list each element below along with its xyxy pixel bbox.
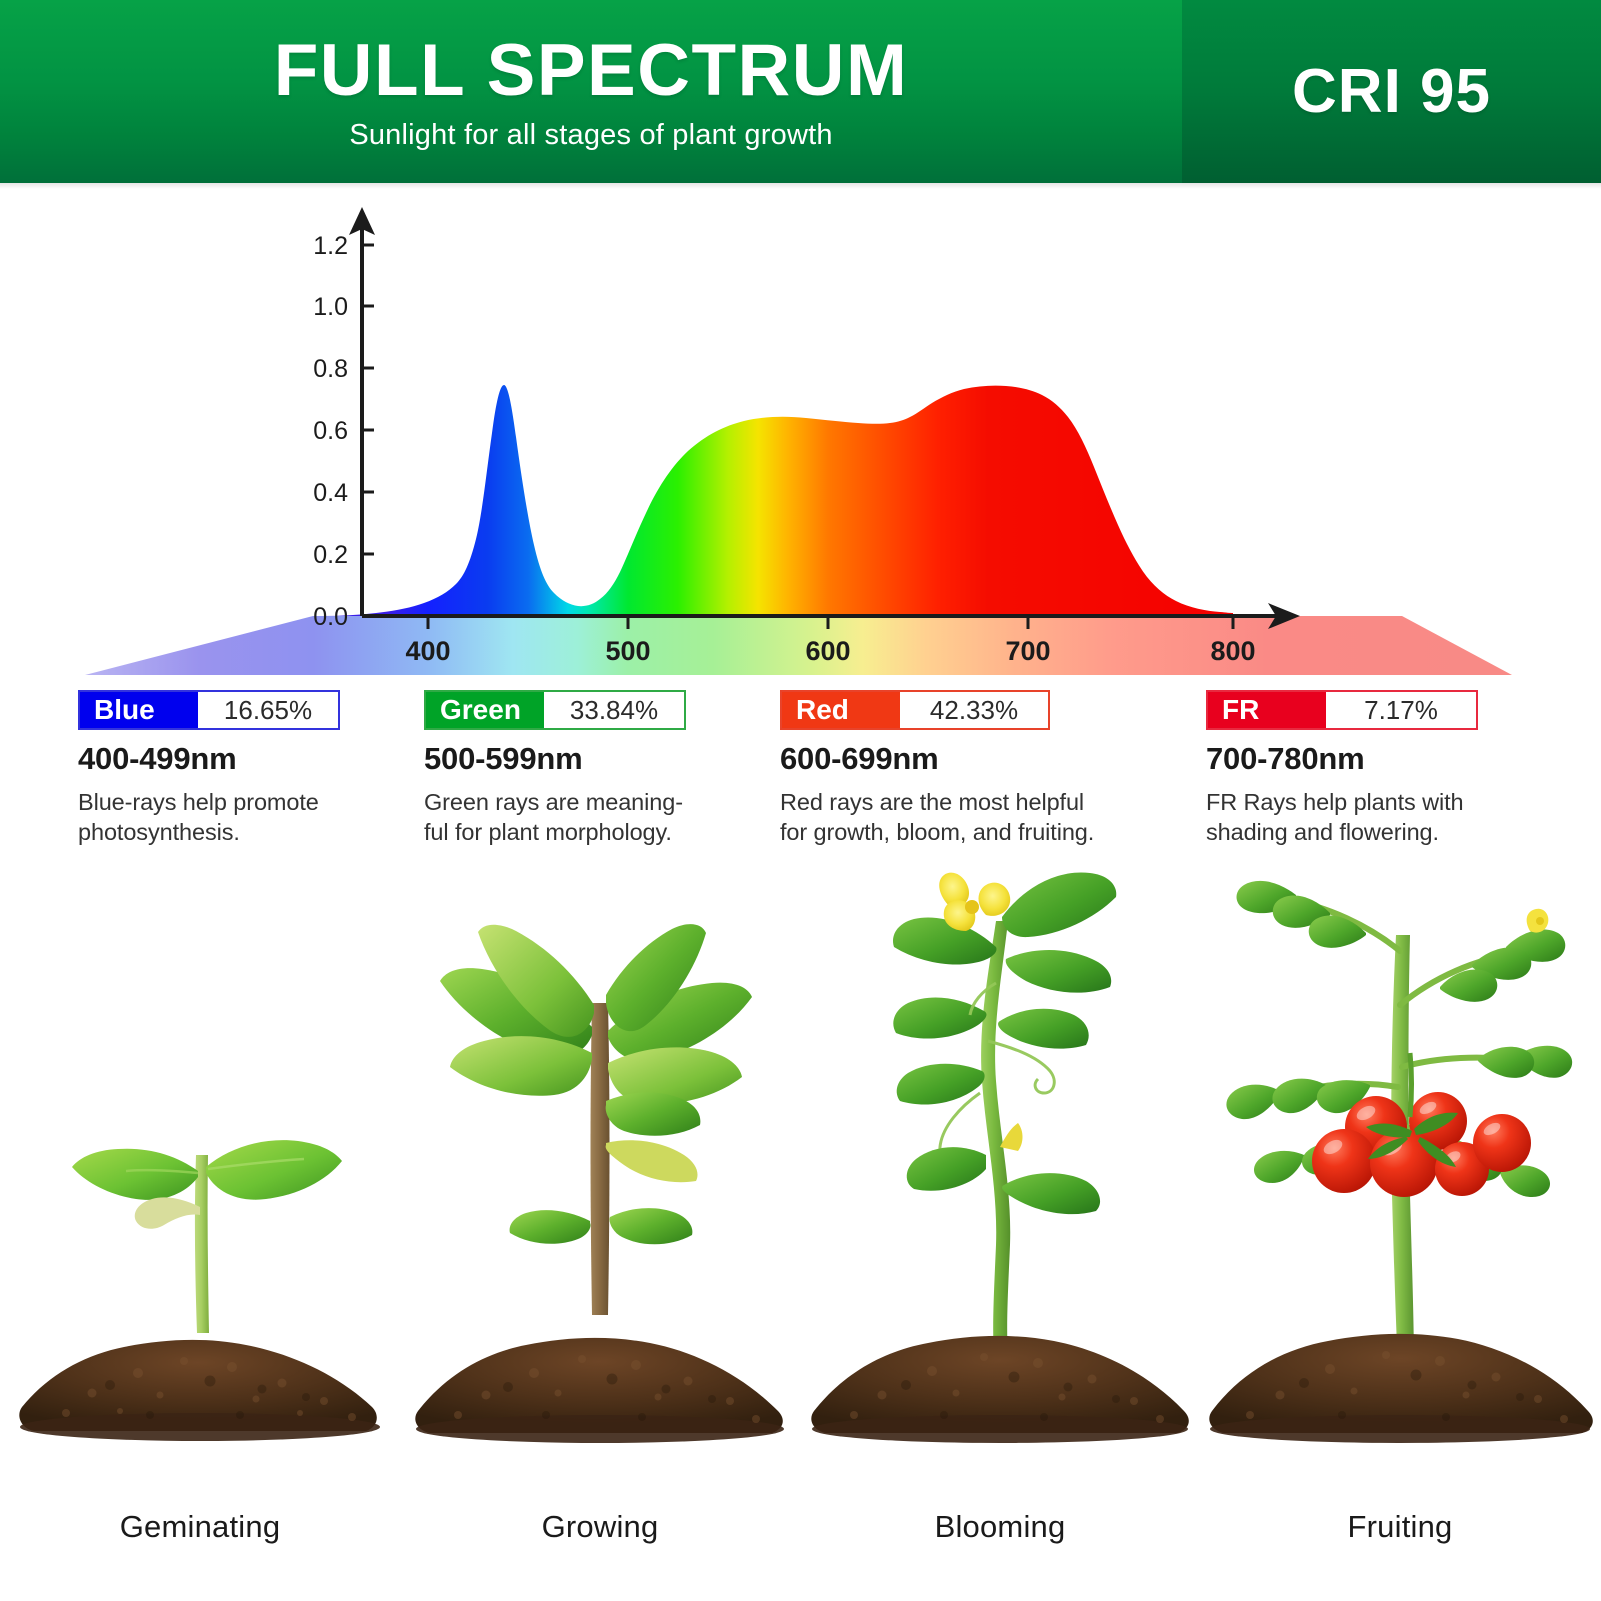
badge-red: Red 42.33% [780, 690, 1050, 730]
flowering-vine-icon [800, 855, 1200, 1515]
spectrum-chart: 0.0 0.2 0.4 0.6 0.8 1.0 1.2 400 500 600 [0, 189, 1601, 689]
spectrum-wedge-band [85, 616, 1512, 675]
stage-label-fruiting: Fruiting [1200, 1509, 1600, 1545]
badge-blue-name: Blue [80, 692, 198, 728]
legend-item-fr: FR 7.17% 700-780nm FR Rays help plants w… [1206, 690, 1584, 847]
svg-text:600: 600 [805, 636, 850, 666]
stage-label-blooming: Blooming [800, 1509, 1200, 1545]
svg-text:1.2: 1.2 [313, 232, 348, 260]
stage-fruiting: Fruiting [1200, 855, 1600, 1601]
svg-text:0.4: 0.4 [313, 479, 348, 507]
desc-red-line2: for growth, bloom, and fruiting. [780, 817, 1158, 847]
range-fr: 700-780nm [1206, 743, 1584, 774]
desc-green-line2: ful for plant morphology. [424, 817, 802, 847]
spectrum-curve [322, 385, 1233, 616]
leafy-sapling-icon [400, 855, 800, 1515]
range-red: 600-699nm [780, 743, 1158, 774]
svg-text:0.0: 0.0 [313, 603, 348, 631]
desc-red: Red rays are the most helpful for growth… [780, 787, 1158, 847]
y-axis-labels: 0.0 0.2 0.4 0.6 0.8 1.0 1.2 [313, 232, 348, 631]
desc-fr-line2: shading and flowering. [1206, 817, 1584, 847]
range-blue: 400-499nm [78, 743, 456, 774]
spectrum-legend: Blue 16.65% 400-499nm Blue-rays help pro… [0, 690, 1601, 850]
desc-blue: Blue-rays help promote photosynthesis. [78, 787, 456, 847]
desc-blue-line1: Blue-rays help promote [78, 787, 456, 817]
desc-blue-line2: photosynthesis. [78, 817, 456, 847]
badge-fr-percent: 7.17% [1326, 692, 1476, 728]
badge-fr: FR 7.17% [1206, 690, 1478, 730]
seedling-icon [0, 855, 400, 1515]
badge-green-percent: 33.84% [544, 692, 684, 728]
svg-text:700: 700 [1005, 636, 1050, 666]
desc-fr-line1: FR Rays help plants with [1206, 787, 1584, 817]
stage-blooming: Blooming [800, 855, 1200, 1601]
svg-text:400: 400 [405, 636, 450, 666]
badge-red-percent: 42.33% [900, 692, 1048, 728]
svg-text:0.6: 0.6 [313, 417, 348, 445]
badge-fr-name: FR [1208, 692, 1326, 728]
badge-green: Green 33.84% [424, 690, 686, 730]
legend-item-green: Green 33.84% 500-599nm Green rays are me… [424, 690, 802, 847]
growth-stages: Geminating [0, 855, 1601, 1601]
flower-cluster-upper [1527, 909, 1549, 933]
page-title: FULL SPECTRUM [274, 34, 909, 107]
badge-blue: Blue 16.65% [78, 690, 340, 730]
page-subtitle: Sunlight for all stages of plant growth [349, 121, 832, 150]
badge-green-name: Green [426, 692, 544, 728]
badge-red-name: Red [782, 692, 900, 728]
desc-green-line1: Green rays are meaning- [424, 787, 802, 817]
svg-text:0.2: 0.2 [313, 541, 348, 569]
stage-label-geminating: Geminating [0, 1509, 400, 1545]
cri-badge: CRI 95 [1292, 56, 1491, 127]
stage-label-growing: Growing [400, 1509, 800, 1545]
legend-item-red: Red 42.33% 600-699nm Red rays are the mo… [780, 690, 1158, 847]
svg-text:500: 500 [605, 636, 650, 666]
range-green: 500-599nm [424, 743, 802, 774]
header-cri-panel: CRI 95 [1182, 0, 1601, 183]
infographic-page: FULL SPECTRUM Sunlight for all stages of… [0, 0, 1601, 1601]
desc-red-line1: Red rays are the most helpful [780, 787, 1158, 817]
desc-fr: FR Rays help plants with shading and flo… [1206, 787, 1584, 847]
stage-growing: Growing [400, 855, 800, 1601]
header-title-panel: FULL SPECTRUM Sunlight for all stages of… [0, 0, 1182, 183]
svg-text:1.0: 1.0 [313, 293, 348, 321]
badge-blue-percent: 16.65% [198, 692, 338, 728]
svg-text:800: 800 [1210, 636, 1255, 666]
stage-geminating: Geminating [0, 855, 400, 1601]
tomato-plant-icon [1200, 855, 1600, 1515]
legend-item-blue: Blue 16.65% 400-499nm Blue-rays help pro… [78, 690, 456, 847]
desc-green: Green rays are meaning- ful for plant mo… [424, 787, 802, 847]
page-header: FULL SPECTRUM Sunlight for all stages of… [0, 0, 1601, 183]
svg-text:0.8: 0.8 [313, 355, 348, 383]
